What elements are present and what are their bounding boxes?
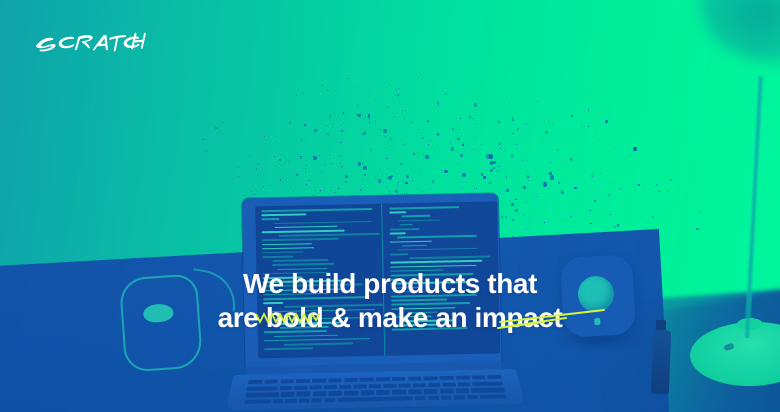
laptop-lid — [242, 193, 502, 368]
desk-bag-highlight — [143, 303, 174, 323]
laptop-base — [226, 369, 525, 410]
code-column-right — [389, 205, 496, 333]
laptop-keyboard — [243, 375, 507, 408]
laptop-screen — [255, 201, 500, 358]
desk-bottle — [651, 330, 671, 395]
zigzag-squiggle — [256, 311, 320, 327]
code-column-left — [261, 208, 386, 353]
diagonal-dashes — [496, 306, 612, 332]
scratch-brush-logo[interactable] — [30, 24, 146, 60]
hero-banner: We build products that are bold & make a… — [0, 0, 780, 412]
laptop — [236, 193, 508, 395]
